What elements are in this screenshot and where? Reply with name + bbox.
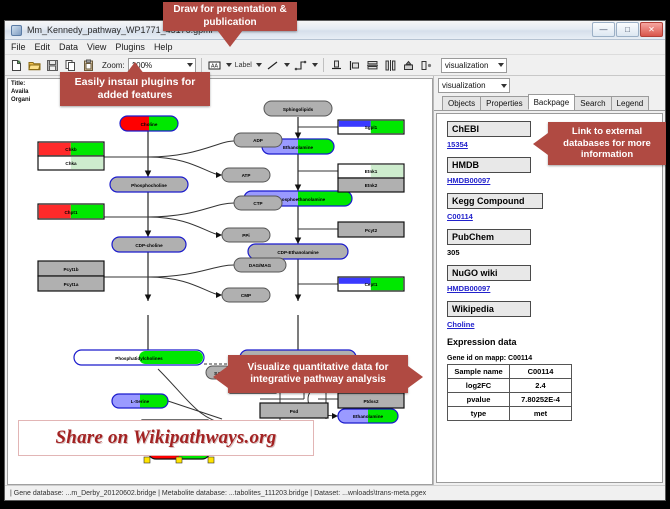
table-row: Sample name C00114 [448, 365, 572, 379]
gene-pcyt1b: Pcyt1b [38, 261, 104, 276]
tab-objects[interactable]: Objects [442, 96, 481, 110]
svg-text:Ethanolamine: Ethanolamine [353, 414, 384, 419]
svg-text:Psd: Psd [290, 409, 299, 414]
gene-pcyt1a: Pcyt1a [38, 276, 104, 291]
node-dagmag: DAG/MAG [234, 258, 286, 272]
tab-search[interactable]: Search [574, 96, 611, 110]
backpage-content[interactable]: ChEBI 15354 HMDB HMDB00097 Kegg Compound… [436, 113, 663, 483]
elbow-dropdown-icon[interactable] [312, 63, 318, 67]
svg-text:Chpt1: Chpt1 [64, 210, 77, 215]
chevron-down-icon [187, 63, 193, 67]
row-key: log2FC [448, 379, 510, 393]
menu-view[interactable]: View [87, 42, 106, 52]
distribute-vertical-icon[interactable] [365, 58, 380, 73]
svg-text:Cept1: Cept1 [365, 282, 378, 287]
row-key: type [448, 407, 510, 421]
gene-sgpl1: Sgpl1 [338, 120, 404, 134]
node-phosphatidylcholines: Phosphatidylcholines [74, 350, 204, 365]
svg-text:Phosphocholine: Phosphocholine [131, 183, 167, 188]
toolbar-separator-2 [323, 58, 324, 72]
callout-plugins-arrow-icon [122, 62, 148, 79]
wikipedia-link[interactable]: Choline [447, 320, 662, 329]
node-cmp: CMP [222, 288, 270, 302]
svg-text:ADP: ADP [253, 138, 263, 143]
gene-id-line: Gene id on mapp: C00114 [447, 355, 662, 362]
paste-icon[interactable] [81, 58, 96, 73]
table-row: pvalue 7.80252E-4 [448, 393, 572, 407]
visualization-bar: visualization [434, 76, 665, 95]
line-dropdown-icon[interactable] [284, 63, 290, 67]
wikipedia-header: Wikipedia [447, 301, 531, 317]
maximize-button[interactable]: □ [616, 22, 639, 37]
kegg-header: Kegg Compound [447, 193, 543, 209]
menu-help[interactable]: Help [154, 42, 173, 52]
expression-data-title: Expression data [447, 337, 662, 347]
menu-edit[interactable]: Edit [35, 42, 51, 52]
datanode-dropdown-icon[interactable] [226, 63, 232, 67]
svg-text:Etnk1: Etnk1 [365, 169, 378, 174]
status-bar: | Gene database: ...m_Derby_20120602.bri… [5, 485, 665, 500]
pubchem-header: PubChem [447, 229, 531, 245]
close-button[interactable]: ✕ [640, 22, 663, 37]
svg-text:CTP: CTP [253, 201, 262, 206]
callout-visualize-arrow-right-icon [408, 366, 423, 388]
node-ethanolamine-bottom: Ethanolamine [338, 409, 398, 423]
svg-text:Sgpl1: Sgpl1 [365, 125, 378, 130]
svg-text:PPi: PPi [242, 233, 249, 238]
chebi-header: ChEBI [447, 121, 531, 137]
status-text: | Gene database: ...m_Derby_20120602.bri… [10, 490, 426, 497]
toolbar-separator [201, 58, 202, 72]
svg-text:ATP: ATP [242, 173, 251, 178]
gene-chka: Chka [38, 156, 104, 170]
save-icon[interactable] [45, 58, 60, 73]
svg-text:Phosphatidylcholines: Phosphatidylcholines [115, 356, 163, 361]
hmdb-header: HMDB [447, 157, 531, 173]
menu-plugins[interactable]: Plugins [115, 42, 145, 52]
stack-icon[interactable] [401, 58, 416, 73]
svg-text:L-Serine: L-Serine [131, 399, 150, 404]
share-banner: Share on Wikipathways.org [18, 420, 314, 456]
gene-etnk2: Etnk2 [338, 178, 404, 192]
svg-text:Ethanolamine: Ethanolamine [283, 145, 314, 150]
row-value: 7.80252E-4 [510, 393, 572, 407]
gene-cept1: Cept1 [338, 277, 404, 291]
minimize-button[interactable]: — [592, 22, 615, 37]
group-icon[interactable] [419, 58, 434, 73]
callout-visualize: Visualize quantitative data for integrat… [228, 355, 408, 393]
svg-text:Ptdss2: Ptdss2 [363, 399, 379, 404]
datanode-icon[interactable]: AA [207, 58, 222, 73]
row-value: C00114 [510, 365, 572, 379]
node-adp: ADP [234, 133, 282, 147]
row-key: pvalue [448, 393, 510, 407]
svg-text:Chkb: Chkb [65, 147, 77, 152]
align-top-icon[interactable] [329, 58, 344, 73]
share-text: Share on Wikipathways.org [56, 427, 277, 449]
hmdb-link[interactable]: HMDB00097 [447, 176, 662, 185]
callout-draw-arrow-icon [217, 30, 243, 47]
elbow-connector-icon[interactable] [293, 58, 308, 73]
app-icon [11, 25, 22, 36]
node-choline-top: Choline [120, 116, 178, 131]
distribute-horizontal-icon[interactable] [383, 58, 398, 73]
svg-text:Chka: Chka [65, 161, 77, 166]
svg-text:CDP-Ethanolamine: CDP-Ethanolamine [277, 250, 319, 255]
window-controls[interactable]: — □ ✕ [592, 22, 663, 37]
new-file-icon[interactable] [9, 58, 24, 73]
node-cdp-choline: CDP-choline [112, 237, 186, 252]
gene-ptdss2: Ptdss2 [338, 393, 404, 408]
nugo-header: NuGO wiki [447, 265, 531, 281]
gene-psd: Psd [260, 403, 328, 418]
visualization-value: visualization [442, 81, 486, 90]
node-sphingolipids: Sphingolipids [264, 101, 332, 116]
node-l-serine-left: L-Serine [112, 394, 168, 408]
tab-properties[interactable]: Properties [480, 96, 528, 110]
callout-draw: Draw for presentation & publication [163, 2, 297, 31]
gene-chkb: Chkb [38, 142, 104, 156]
svg-text:AA: AA [211, 63, 218, 69]
svg-text:Pcyt1b: Pcyt1b [63, 267, 78, 272]
title-bar: Mm_Kennedy_pathway_WP1771_45176.gpml — □… [5, 21, 665, 40]
gene-pcyt2: Pcyt2 [338, 222, 404, 237]
align-left-icon[interactable] [347, 58, 362, 73]
node-ctp: CTP [234, 196, 282, 210]
menu-file[interactable]: File [11, 42, 26, 52]
row-value: met [510, 407, 572, 421]
nugo-link[interactable]: HMDB00097 [447, 284, 662, 293]
expression-table: Sample name C00114 log2FC 2.4 pvalue 7.8… [447, 364, 572, 421]
toolbar-visualization-value: visualization [445, 61, 489, 70]
node-ppi: PPi [222, 228, 270, 242]
tab-legend[interactable]: Legend [611, 96, 650, 110]
svg-text:CMP: CMP [241, 293, 251, 298]
menu-bar: File Edit Data View Plugins Help [5, 40, 665, 55]
row-value: 2.4 [510, 379, 572, 393]
open-folder-icon[interactable] [27, 58, 42, 73]
svg-text:DAG/MAG: DAG/MAG [249, 263, 272, 268]
kegg-link[interactable]: C00114 [447, 212, 662, 221]
callout-visualize-arrow-left-icon [213, 366, 228, 388]
callout-link-arrow-icon [533, 133, 548, 155]
callout-link: Link to external databases for more info… [548, 122, 666, 165]
copy-icon[interactable] [63, 58, 78, 73]
svg-text:Choline: Choline [141, 122, 158, 127]
node-atp: ATP [222, 168, 270, 182]
toolbar-visualization-select[interactable]: visualization [441, 58, 507, 73]
table-row: type met [448, 407, 572, 421]
row-key: Sample name [448, 365, 510, 379]
label-tool-label[interactable]: Label [235, 62, 252, 69]
node-cdp-ethanolamine: CDP-Ethanolamine [248, 244, 348, 259]
visualization-select[interactable]: visualization [438, 78, 510, 93]
svg-text:CDP-choline: CDP-choline [135, 243, 163, 248]
tab-backpage[interactable]: Backpage [528, 94, 576, 110]
table-row: log2FC 2.4 [448, 379, 572, 393]
side-panel-tabs: Objects Properties Backpage Search Legen… [434, 95, 665, 111]
gene-etnk1: Etnk1 [338, 164, 404, 178]
label-dropdown-icon[interactable] [256, 63, 262, 67]
chevron-down-icon-3 [501, 84, 507, 88]
svg-text:Pcyt1a: Pcyt1a [64, 282, 79, 287]
pathway-diagram[interactable]: Sphingolipids Ethanolamine O-Phosphoetha… [8, 79, 432, 479]
gene-chpt1: Chpt1 [38, 204, 104, 219]
chevron-down-icon-2 [498, 63, 504, 67]
node-phosphocholine: Phosphocholine [110, 177, 188, 192]
svg-text:Sphingolipids: Sphingolipids [283, 107, 314, 112]
pubchem-value: 305 [447, 248, 662, 257]
line-tool-icon[interactable] [265, 58, 280, 73]
svg-text:Pcyt2: Pcyt2 [365, 228, 378, 233]
svg-text:Etnk2: Etnk2 [365, 183, 378, 188]
menu-data[interactable]: Data [59, 42, 78, 52]
